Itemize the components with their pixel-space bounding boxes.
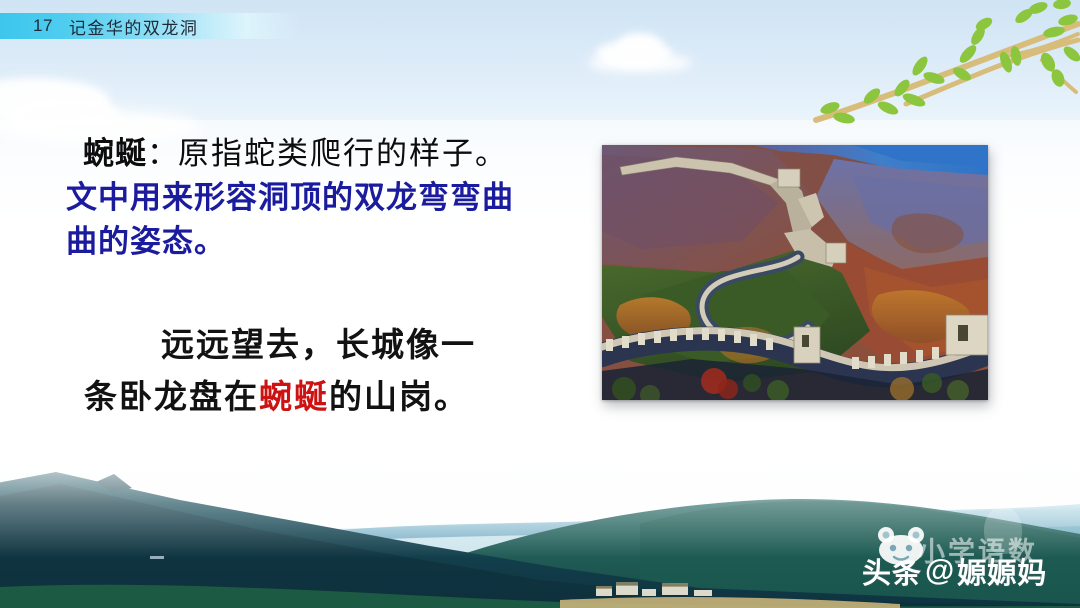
vocabulary-gloss-line-1: 文中用来形容洞顶的双龙弯弯曲 [66,176,586,220]
vocabulary-word: 蜿蜒 [83,136,147,171]
sentence-text-after: 的山岗。 [329,380,469,416]
vocabulary-definition: 原指蛇类爬行的样子。 [178,136,508,171]
vocabulary-block: 蜿蜒：原指蛇类爬行的样子。 文中用来形容洞顶的双龙弯弯曲 曲的姿态。 [66,132,586,264]
watermark: 小学语数 头条 @ 嫄嫄妈 [862,528,1077,594]
vocabulary-gloss-line-2: 曲的姿态。 [66,220,586,264]
lesson-number: 17 [33,16,53,36]
watermark-at-symbol: @ [924,554,955,588]
example-sentence-line-1: 远远望去，长城像一 [66,320,586,372]
cloud-icon [588,54,692,72]
sentence-highlight-word: 蜿蜒 [259,380,329,416]
cloud-icon [618,33,662,55]
vocabulary-definition-line: 蜿蜒：原指蛇类爬行的样子。 [66,132,586,176]
vocabulary-colon: ： [147,136,178,171]
lesson-title: 记金华的双龙洞 [69,14,199,39]
leafy-branch-decoration [810,0,1080,136]
page-title: 17 记金华的双龙洞 [0,11,198,41]
example-sentence-block: 远远望去，长城像一 条卧龙盘在蜿蜒的山岗。 [66,320,586,424]
example-sentence-line-2: 条卧龙盘在蜿蜒的山岗。 [66,372,586,424]
panda-face-icon [874,526,928,566]
great-wall-photo [602,145,988,400]
watermark-account: 嫄嫄妈 [957,550,1047,592]
sentence-text-before: 条卧龙盘在 [84,380,259,416]
slide-canvas: 17 记金华的双龙洞 [0,0,1080,608]
